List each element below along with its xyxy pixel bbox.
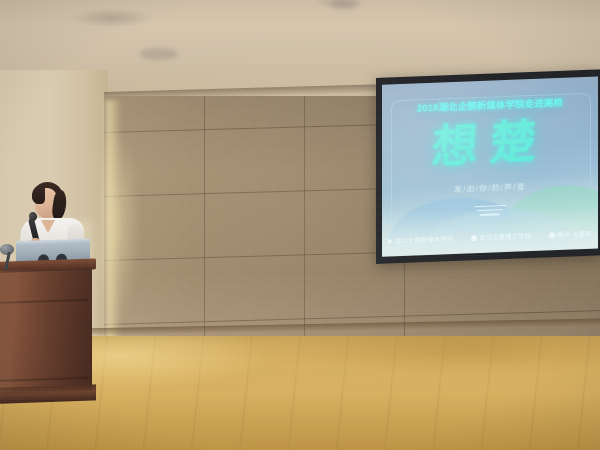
podium-body <box>0 268 92 393</box>
podium <box>0 262 96 412</box>
partner-logo-right: 腾讯·大楚网 <box>549 229 592 240</box>
projection-screen[interactable]: 2018湖北企鹅新媒体学院走进高校 想楚 发/出/你/的/声/音 湖北企鹅新媒体… <box>376 69 600 264</box>
projection-slide: 2018湖北企鹅新媒体学院走进高校 想楚 发/出/你/的/声/音 湖北企鹅新媒体… <box>382 76 598 256</box>
ceiling-light-icon <box>330 0 358 9</box>
podium-base <box>0 384 96 404</box>
ceiling-light-icon <box>140 48 178 60</box>
stack-line <box>477 209 503 212</box>
wall-light-strip-icon <box>106 100 122 340</box>
partner-logo-right-label: 腾讯·大楚网 <box>557 229 592 239</box>
hair-fringe <box>32 186 45 204</box>
triangle-logo-icon <box>388 238 393 244</box>
penguin-logo-icon <box>549 232 555 238</box>
panel-seam-vertical <box>204 96 205 348</box>
seal-logo-icon <box>471 235 477 241</box>
stack-line <box>474 205 506 208</box>
stacked-lines-icon <box>474 202 506 218</box>
panel-seam-vertical <box>304 96 305 348</box>
stack-line <box>480 213 500 215</box>
conference-room-photo: 2018湖北企鹅新媒体学院走进高校 想楚 发/出/你/的/声/音 湖北企鹅新媒体… <box>0 0 600 450</box>
